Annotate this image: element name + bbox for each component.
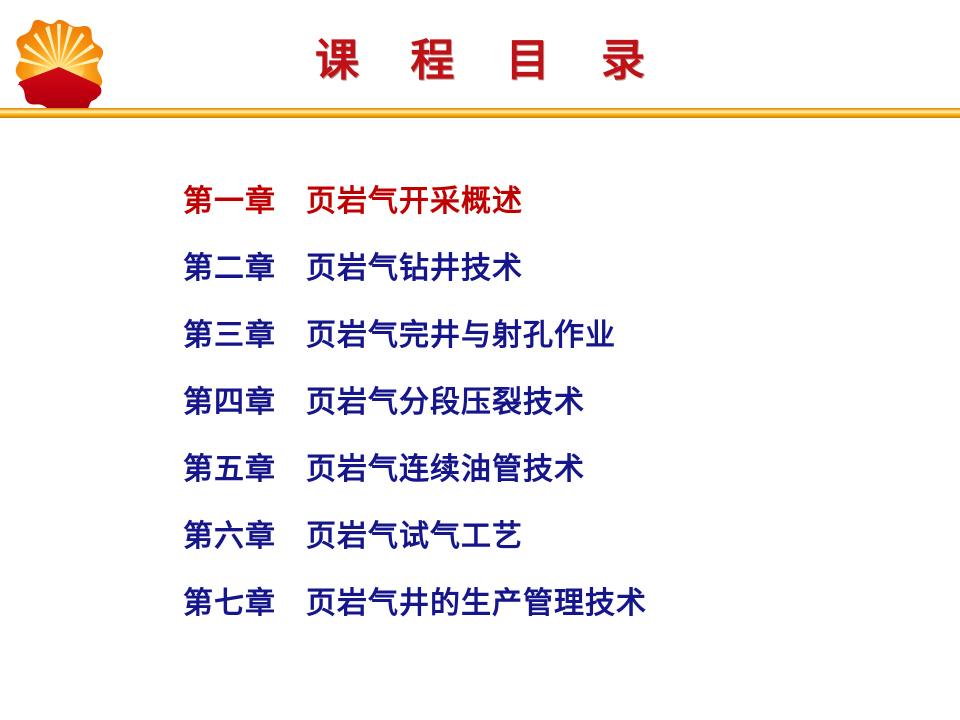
toc-chapter-title: 页岩气试气工艺 (306, 511, 523, 555)
toc-item-chapter-3[interactable]: 第三章 页岩气完井与射孔作业 (183, 310, 943, 377)
toc-chapter-label: 第五章 (183, 444, 306, 488)
toc-chapter-title: 页岩气开采概述 (306, 176, 523, 220)
toc-item-chapter-7[interactable]: 第七章 页岩气井的生产管理技术 (183, 578, 943, 645)
toc-chapter-label: 第六章 (183, 511, 306, 555)
toc-item-chapter-5[interactable]: 第五章 页岩气连续油管技术 (183, 444, 943, 511)
toc-item-chapter-1[interactable]: 第一章 页岩气开采概述 (183, 176, 943, 243)
toc-item-chapter-2[interactable]: 第二章 页岩气钻井技术 (183, 243, 943, 310)
toc-chapter-title: 页岩气钻井技术 (306, 243, 523, 287)
toc-chapter-label: 第一章 (183, 176, 306, 220)
toc-item-chapter-6[interactable]: 第六章 页岩气试气工艺 (183, 511, 943, 578)
header-divider (0, 108, 960, 118)
toc-chapter-title: 页岩气连续油管技术 (306, 444, 585, 488)
toc-chapter-label: 第四章 (183, 377, 306, 421)
slide-canvas: 课 程 目 录 第一章 页岩气开采概述 第二章 页岩气钻井技术 第三章 页岩气完… (0, 0, 960, 720)
table-of-contents: 第一章 页岩气开采概述 第二章 页岩气钻井技术 第三章 页岩气完井与射孔作业 第… (183, 176, 943, 645)
slide-header: 课 程 目 录 (0, 0, 960, 118)
toc-chapter-label: 第七章 (183, 578, 306, 622)
page-title: 课 程 目 录 (0, 33, 960, 89)
toc-chapter-title: 页岩气完井与射孔作业 (306, 310, 616, 354)
toc-chapter-title: 页岩气井的生产管理技术 (306, 578, 647, 622)
toc-item-chapter-4[interactable]: 第四章 页岩气分段压裂技术 (183, 377, 943, 444)
toc-chapter-label: 第三章 (183, 310, 306, 354)
toc-chapter-title: 页岩气分段压裂技术 (306, 377, 585, 421)
toc-chapter-label: 第二章 (183, 243, 306, 287)
